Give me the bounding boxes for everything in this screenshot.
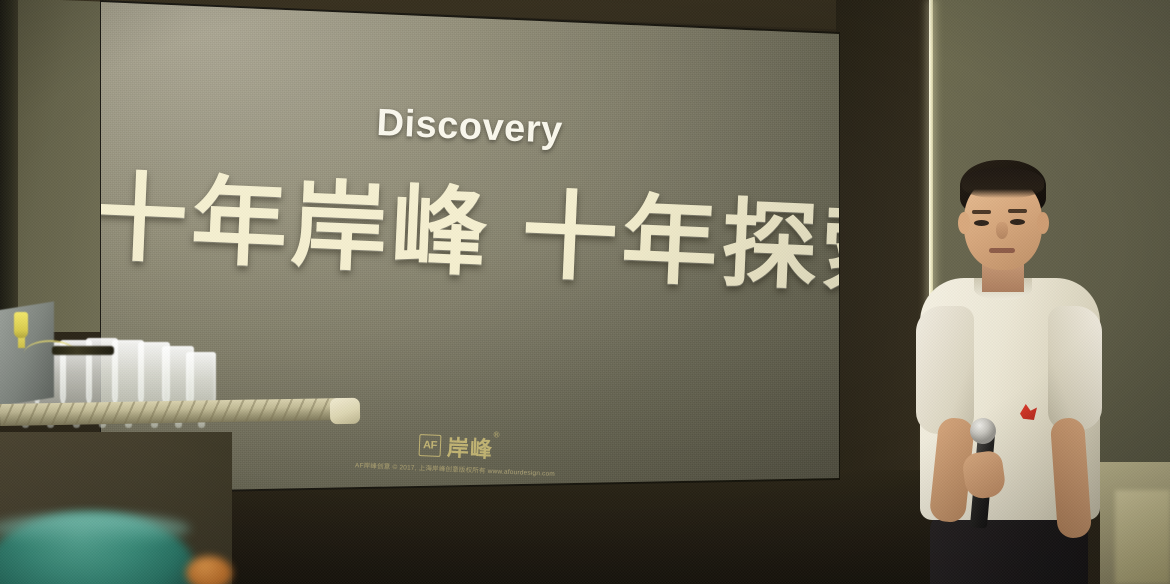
presenter-brow-right bbox=[1008, 209, 1027, 213]
presenter-eye-right bbox=[1010, 219, 1025, 225]
foreground-fruit bbox=[186, 556, 232, 584]
website-url: www.afourdesign.com bbox=[487, 468, 555, 478]
presenter bbox=[908, 160, 1128, 584]
copyright-text: AF岸峰创意 © 2017, 上海岸峰创意版权所有 bbox=[355, 462, 486, 475]
presenter-ear-left bbox=[958, 212, 970, 234]
slide-title-english: Discovery bbox=[95, 90, 844, 165]
presenter-sleeve-right bbox=[1048, 306, 1102, 430]
presenter-nose bbox=[996, 222, 1008, 239]
registered-trademark-icon: ® bbox=[493, 430, 500, 439]
brand-name-chinese: 岸峰 ® bbox=[446, 430, 493, 464]
projection-screen: Discovery 十年岸峰 十年探索 AF 岸峰 ® AF岸峰创意 © 201… bbox=[96, 0, 844, 500]
presenter-mouth bbox=[989, 248, 1015, 253]
slide-title-chinese: 十年岸峰 十年探索 bbox=[89, 164, 841, 303]
presenter-eye-left bbox=[974, 220, 989, 226]
left-wall-shadow bbox=[0, 0, 18, 330]
presenter-brow-left bbox=[972, 210, 991, 214]
counter-end-cap bbox=[330, 398, 360, 425]
af-monogram-icon: AF bbox=[419, 434, 442, 457]
presenter-ear-right bbox=[1037, 212, 1049, 234]
presenter-sleeve-left bbox=[916, 306, 974, 434]
brand-name-text: 岸峰 bbox=[446, 435, 493, 462]
presenter-fringe bbox=[962, 168, 1044, 198]
presentation-photo-scene: Discovery 十年岸峰 十年探索 AF 岸峰 ® AF岸峰创意 © 201… bbox=[0, 0, 1170, 584]
desk-items bbox=[52, 346, 114, 355]
bottle-cap bbox=[14, 312, 28, 338]
